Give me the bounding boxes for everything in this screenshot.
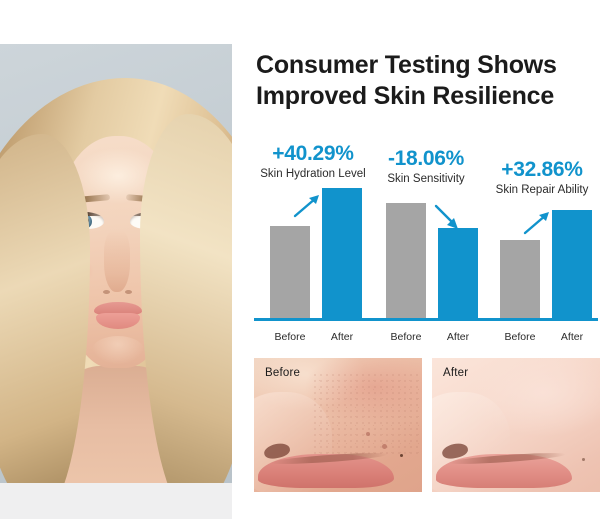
- nostril-left: [103, 290, 110, 294]
- tick-label-after-2: After: [430, 331, 486, 343]
- metric-value: -18.06%: [374, 147, 478, 171]
- page-title: Consumer Testing Shows Improved Skin Res…: [256, 50, 606, 112]
- photo-caption-before: Before: [265, 367, 300, 379]
- tick-label-after-1: After: [314, 331, 370, 343]
- bar-after-sensitivity: [438, 228, 478, 318]
- bar-before-hydration: [270, 226, 310, 318]
- metric-skin-hydration: +40.29% Skin Hydration Level: [254, 142, 372, 182]
- headline-line-1: Consumer Testing Shows: [256, 51, 557, 79]
- metric-skin-sensitivity: -18.06% Skin Sensitivity: [374, 147, 478, 187]
- before-after-bar-chart: Before After Before After: [254, 185, 600, 345]
- bar-after-repair: [552, 210, 592, 318]
- model-portrait-image: [0, 44, 232, 483]
- trend-arrow-up-hydration: [292, 193, 322, 219]
- tick-label-before-2: Before: [376, 331, 436, 343]
- photo-before: Before: [254, 358, 422, 492]
- bar-after-hydration: [322, 188, 362, 318]
- photo-after: After: [432, 358, 600, 492]
- photo-caption-after: After: [443, 367, 468, 379]
- metric-label: Skin Hydration Level: [254, 167, 372, 182]
- hair-right-strand: [140, 114, 232, 483]
- poster-root: Consumer Testing Shows Improved Skin Res…: [0, 0, 614, 519]
- metric-value: +40.29%: [254, 142, 372, 166]
- content-column: Consumer Testing Shows Improved Skin Res…: [232, 0, 614, 519]
- mole: [582, 458, 585, 461]
- tick-label-before-3: Before: [490, 331, 550, 343]
- tick-label-before-1: Before: [260, 331, 320, 343]
- chart-baseline-axis: [254, 318, 598, 321]
- mole: [400, 454, 403, 457]
- trend-arrow-up-repair: [522, 210, 552, 236]
- tick-label-after-3: After: [544, 331, 600, 343]
- headline-line-2: Improved Skin Resilience: [256, 81, 606, 112]
- before-after-photo-pair: Before After: [254, 358, 600, 492]
- blemish-spot: [382, 444, 387, 449]
- blemish-spot: [366, 432, 370, 436]
- bar-before-repair: [500, 240, 540, 318]
- bar-before-sensitivity: [386, 203, 426, 318]
- hair-left-strand: [0, 134, 90, 483]
- enlarged-pores-before: [312, 372, 422, 458]
- trend-arrow-down-sensitivity: [432, 203, 462, 231]
- nostril-right: [125, 290, 132, 294]
- nose: [104, 230, 130, 292]
- metric-value: +32.86%: [480, 158, 604, 182]
- chin-highlight: [92, 336, 144, 364]
